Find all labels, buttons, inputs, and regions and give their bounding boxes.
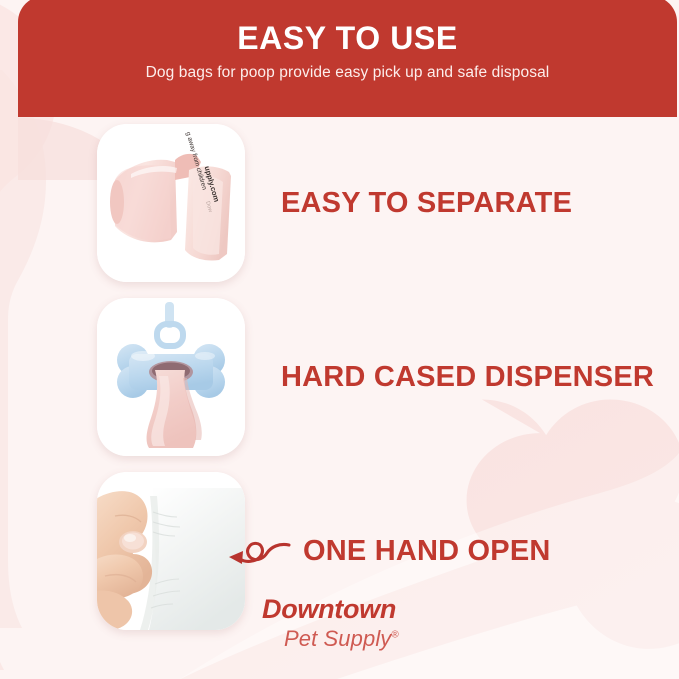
banner-title: EASY TO USE bbox=[18, 22, 677, 56]
brand-name-secondary-text: Pet Supply bbox=[284, 626, 391, 651]
header-banner: EASY TO USE Dog bags for poop provide ea… bbox=[18, 0, 677, 117]
pink-bag-roll-photo: upply.com g away from children Dow bbox=[97, 124, 245, 282]
brand-name-primary: Downtown bbox=[262, 596, 399, 623]
feature-row: HARD CASED DISPENSER bbox=[0, 290, 679, 464]
feature-label: HARD CASED DISPENSER bbox=[281, 361, 654, 394]
curly-arrow-left-icon bbox=[227, 531, 293, 571]
feature-row: upply.com g away from children Dow EASY … bbox=[0, 116, 679, 290]
feature-list: upply.com g away from children Dow EASY … bbox=[0, 116, 679, 638]
feature-label: EASY TO SEPARATE bbox=[281, 187, 572, 220]
infographic-page: EASY TO USE Dog bags for poop provide ea… bbox=[0, 0, 679, 679]
feature-label: ONE HAND OPEN bbox=[303, 535, 551, 568]
registered-trademark-icon: ® bbox=[391, 630, 398, 641]
banner-subtitle: Dog bags for poop provide easy pick up a… bbox=[18, 64, 677, 82]
brand-name-secondary: Pet Supply® bbox=[284, 628, 399, 650]
bone-dispenser-photo bbox=[97, 298, 245, 456]
brand-logo: Downtown Pet Supply® bbox=[262, 596, 399, 650]
hand-opening-bag-photo bbox=[97, 472, 245, 630]
